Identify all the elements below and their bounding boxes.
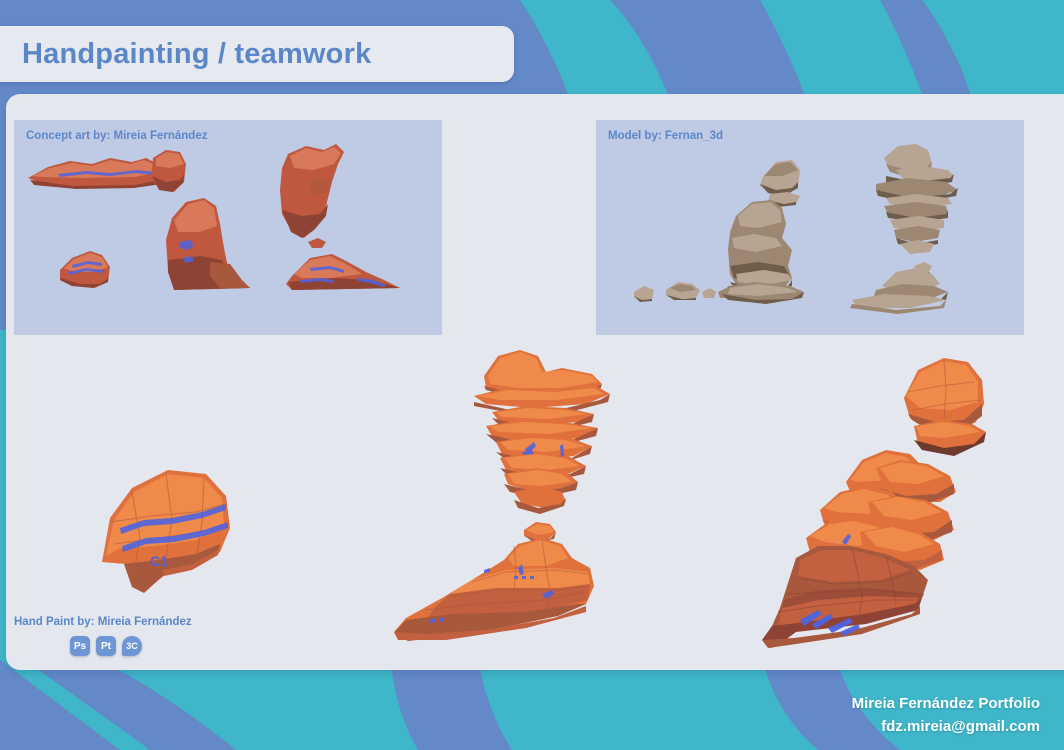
concept-rock-column (151, 150, 250, 290)
concept-rock-ridge (28, 158, 164, 189)
model-rubble-trail (666, 282, 732, 300)
concept-rock-boulder (60, 251, 110, 288)
footer-credit: Mireia Fernández Portfolio fdz.mireia@gm… (852, 693, 1040, 738)
handpaint-caption: Hand Paint by: Mireia Fernández (14, 616, 192, 628)
handpaint-base-middle (394, 538, 594, 641)
model-caption: Model by: Fernan_3d (608, 130, 723, 142)
rock-label-c1: C1 (150, 553, 168, 569)
handpaint-formation-middle (394, 350, 610, 641)
handpaint-formation-right (762, 358, 986, 648)
model-illustration (596, 120, 1024, 335)
model-stack-right (850, 144, 958, 314)
page-title: Handpainting / teamwork (22, 38, 371, 71)
concept-pebble (308, 238, 326, 248)
model-pebble-left (634, 286, 654, 302)
model-stack-left (722, 160, 804, 304)
threedcoat-badge[interactable]: 3C (122, 636, 142, 656)
footer-email: fdz.mireia@gmail.com (852, 716, 1040, 739)
footer-portfolio-name: Mireia Fernández Portfolio (852, 693, 1040, 716)
slide-title-pill: Handpainting / teamwork (0, 26, 514, 82)
concept-art-illustration (14, 120, 442, 335)
model-panel: Model by: Fernan_3d (596, 120, 1024, 335)
concept-rock-spire (280, 144, 400, 290)
concept-art-caption: Concept art by: Mireia Fernández (26, 130, 207, 142)
photoshop-badge[interactable]: Ps (70, 636, 90, 656)
handpaint-boulder-right (904, 358, 986, 456)
substance-painter-badge[interactable]: Pt (96, 636, 116, 656)
handpaint-rock-c1: C1 (102, 470, 230, 593)
software-badge-row: Ps Pt 3C (70, 636, 142, 656)
concept-art-panel: Concept art by: Mireia Fernández (14, 120, 442, 335)
content-card: Concept art by: Mireia Fernández (6, 94, 1064, 670)
